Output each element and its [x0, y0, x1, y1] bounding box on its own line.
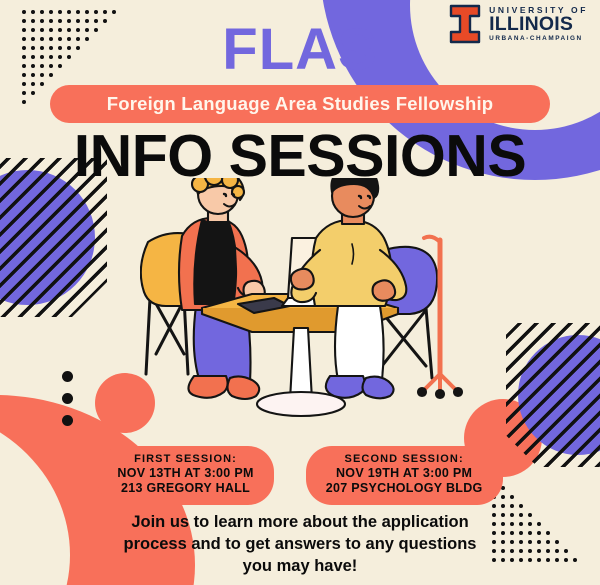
block-i-icon	[448, 4, 482, 44]
striped-circle-right-decor	[518, 335, 600, 455]
session-pill-first[interactable]: FIRST SESSION: NOV 13TH AT 3:00 PM 213 G…	[97, 446, 273, 505]
session-pill-list: FIRST SESSION: NOV 13TH AT 3:00 PM 213 G…	[0, 446, 600, 505]
footer-text: Join us to learn more about the applicat…	[62, 512, 538, 578]
page-title: INFO SESSIONS	[0, 122, 600, 190]
subtitle-pill: Foreign Language Area Studies Fellowship	[50, 85, 550, 123]
session-datetime: NOV 13TH AT 3:00 PM	[117, 466, 253, 481]
striped-circle-left-decor	[0, 170, 95, 305]
footer-line-1: Join us to learn more about the applicat…	[62, 512, 538, 534]
footer-line-3: you may have!	[62, 556, 538, 578]
logo-line-urbana-champaign: URBANA-CHAMPAIGN	[489, 36, 588, 42]
session-location: 213 GREGORY HALL	[117, 481, 253, 496]
three-dots-decor	[62, 371, 73, 437]
logo-line-illinois: ILLINOIS	[489, 15, 588, 35]
illinois-wordmark: UNIVERSITY OF ILLINOIS URBANA-CHAMPAIGN	[489, 6, 588, 42]
session-pill-second[interactable]: SECOND SESSION: NOV 19TH AT 3:00 PM 207 …	[306, 446, 503, 505]
students-at-table-illustration	[140, 178, 470, 428]
session-location: 207 PSYCHOLOGY BLDG	[326, 481, 483, 496]
university-of-illinois-logo: UNIVERSITY OF ILLINOIS URBANA-CHAMPAIGN	[448, 4, 588, 44]
poster-canvas: UNIVERSITY OF ILLINOIS URBANA-CHAMPAIGN …	[0, 0, 600, 585]
footer-line-2: process and to get answers to any questi…	[62, 534, 538, 556]
session-heading: SECOND SESSION:	[326, 453, 483, 465]
session-heading: FIRST SESSION:	[117, 453, 253, 465]
session-datetime: NOV 19TH AT 3:00 PM	[326, 466, 483, 481]
